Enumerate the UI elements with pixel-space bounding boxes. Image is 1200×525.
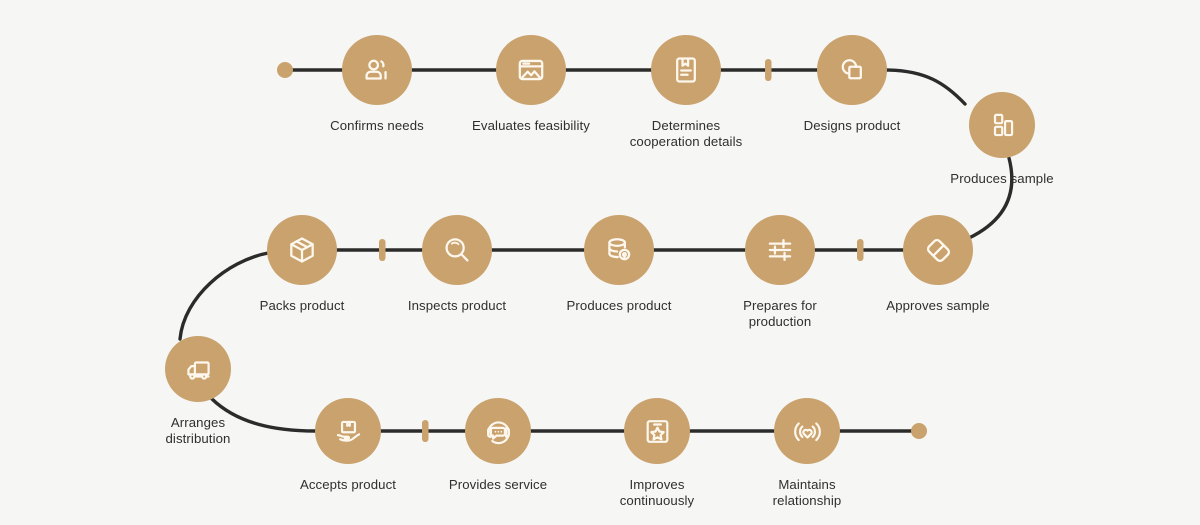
bandage-cross-icon xyxy=(922,234,955,267)
layout-blocks-icon xyxy=(987,110,1018,141)
node-circle[interactable] xyxy=(267,215,337,285)
connector-designs-to-produces-sample xyxy=(885,70,965,104)
connector-packs-to-arranges xyxy=(180,253,268,339)
node-circle[interactable] xyxy=(651,35,721,105)
book-bookmark-icon xyxy=(670,54,702,86)
connector-tick-2 xyxy=(379,239,386,261)
node-circle[interactable] xyxy=(165,336,231,402)
sliders-icon xyxy=(764,234,796,266)
node-circle[interactable] xyxy=(774,398,840,464)
node-circle[interactable] xyxy=(465,398,531,464)
connector-tick-4 xyxy=(422,420,429,442)
database-check-icon xyxy=(603,234,635,266)
node-circle[interactable] xyxy=(496,35,566,105)
image-card-icon xyxy=(515,54,547,86)
node-label: Designs product xyxy=(757,118,947,134)
users-icon xyxy=(361,54,393,86)
node-circle[interactable] xyxy=(422,215,492,285)
headset-chat-icon xyxy=(483,416,514,447)
node-circle[interactable] xyxy=(624,398,690,464)
connector-tick-3 xyxy=(857,239,864,261)
end-dot xyxy=(911,423,927,439)
star-certificate-icon xyxy=(642,416,673,447)
shapes-overlap-icon xyxy=(836,54,868,86)
connector-produces-sample-to-approves-sample xyxy=(969,158,1012,238)
node-label: Maintains relationship xyxy=(717,477,897,508)
hand-box-icon xyxy=(333,416,364,447)
node-circle[interactable] xyxy=(745,215,815,285)
node-label: Produces product xyxy=(524,298,714,314)
node-circle[interactable] xyxy=(969,92,1035,158)
start-dot xyxy=(277,62,293,78)
node-circle[interactable] xyxy=(903,215,973,285)
node-label: Provides service xyxy=(403,477,593,493)
node-circle[interactable] xyxy=(817,35,887,105)
node-label: Arranges distribution xyxy=(118,415,278,446)
node-circle[interactable] xyxy=(315,398,381,464)
connector-tick-1 xyxy=(765,59,772,81)
node-label: Produces sample xyxy=(902,171,1102,187)
heart-signal-icon xyxy=(792,416,823,447)
process-flow-diagram: Confirms needs Evaluates feasibility xyxy=(0,0,1200,525)
node-circle[interactable] xyxy=(342,35,412,105)
box-package-icon xyxy=(286,234,318,266)
magnifier-icon xyxy=(441,234,473,266)
node-circle[interactable] xyxy=(584,215,654,285)
node-label: Packs product xyxy=(212,298,392,314)
node-label: Prepares for production xyxy=(690,298,870,329)
truck-icon xyxy=(183,354,214,385)
